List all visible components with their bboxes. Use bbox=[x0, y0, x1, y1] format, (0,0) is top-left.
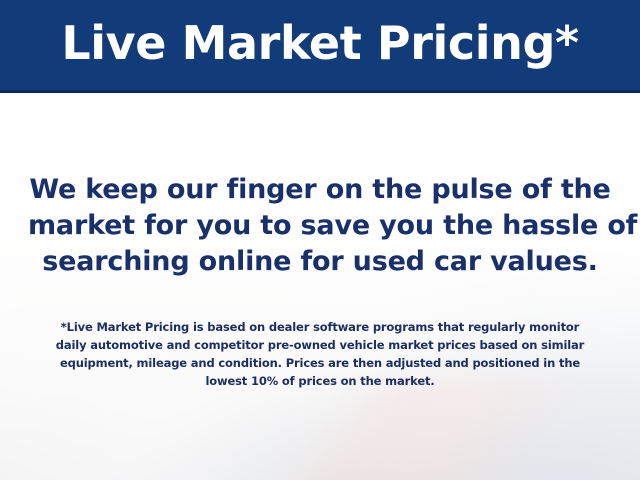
headline-line-1: We keep our finger on the pulse of the bbox=[28, 172, 612, 208]
disclaimer-line-2: daily automotive and competitor pre-owne… bbox=[20, 336, 620, 354]
disclaimer-line-3: equipment, mileage and condition. Prices… bbox=[20, 354, 620, 372]
disclaimer-line-4: lowest 10% of prices on the market. bbox=[20, 372, 620, 390]
disclaimer-text: *Live Market Pricing is based on dealer … bbox=[20, 318, 620, 390]
headline-text: We keep our finger on the pulse of the m… bbox=[28, 172, 612, 280]
live-market-pricing-banner: Live Market Pricing* We keep our finger … bbox=[0, 0, 640, 480]
headline-line-3: searching online for used car values. bbox=[28, 244, 612, 280]
headline-line-2: market for you to save you the hassle of bbox=[28, 208, 612, 244]
header-band: Live Market Pricing* bbox=[0, 0, 640, 93]
disclaimer-line-1: *Live Market Pricing is based on dealer … bbox=[20, 318, 620, 336]
page-title: Live Market Pricing* bbox=[61, 20, 578, 70]
